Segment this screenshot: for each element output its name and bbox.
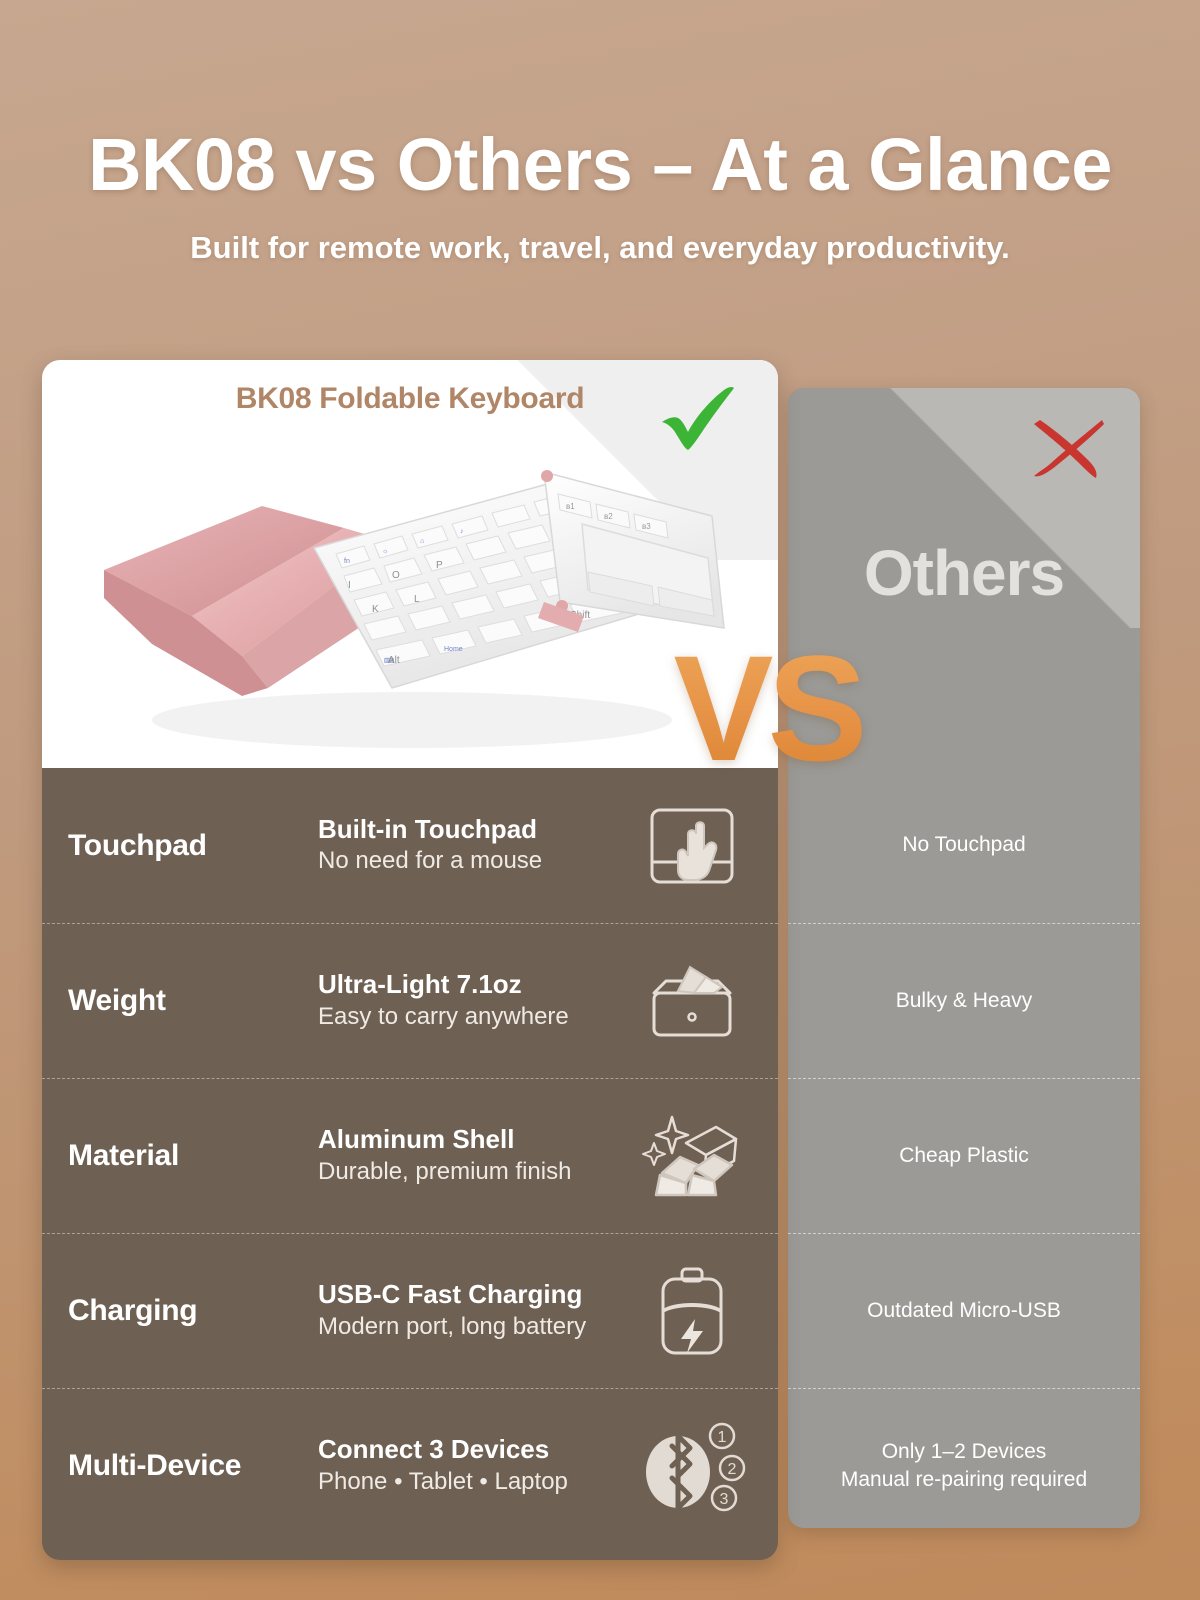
- comparison-row: Material Aluminum Shell Durable, premium…: [42, 1078, 778, 1233]
- row-detail-sub: No need for a mouse: [318, 846, 624, 876]
- row-detail-main: Ultra-Light 7.1oz: [318, 970, 624, 1000]
- product-image: fn ☼ ⌂ ♪ ⌨ Home I O P K L: [92, 420, 732, 760]
- row-detail-main: Connect 3 Devices: [318, 1435, 624, 1465]
- row-category: Multi-Device: [68, 1449, 318, 1483]
- row-detail-sub: Phone • Tablet • Laptop: [318, 1467, 624, 1497]
- svg-text:I: I: [348, 580, 351, 591]
- row-detail-sub: Modern port, long battery: [318, 1312, 624, 1342]
- battery-bolt-icon: [651, 1265, 733, 1357]
- red-cross-icon: [1024, 410, 1110, 484]
- others-row: Outdated Micro-USB: [788, 1233, 1140, 1388]
- packing-box-icon: [644, 959, 740, 1043]
- others-value: Cheap Plastic: [899, 1142, 1029, 1170]
- row-detail-main: Aluminum Shell: [318, 1125, 624, 1155]
- page-title: BK08 vs Others – At a Glance: [0, 128, 1200, 202]
- svg-text:L: L: [414, 594, 420, 605]
- svg-text:P: P: [436, 560, 443, 571]
- others-value-line1: Only 1–2 Devices: [882, 1440, 1047, 1463]
- touchpad-hand-icon: [646, 804, 738, 888]
- page-header: BK08 vs Others – At a Glance Built for r…: [0, 0, 1200, 266]
- comparison-row: Weight Ultra-Light 7.1oz Easy to carry a…: [42, 923, 778, 1078]
- row-detail: Ultra-Light 7.1oz Easy to carry anywhere: [318, 970, 632, 1032]
- product-rows: Touchpad Built-in Touchpad No need for a…: [42, 768, 778, 1560]
- row-category: Material: [68, 1139, 318, 1173]
- others-value: Only 1–2 Devices Manual re-pairing requi…: [841, 1438, 1087, 1495]
- svg-text:☼: ☼: [382, 548, 388, 555]
- metal-bars-icon: [642, 1113, 742, 1199]
- others-row: Bulky & Heavy: [788, 923, 1140, 1078]
- svg-text:⌂: ⌂: [420, 538, 424, 545]
- others-value: Outdated Micro-USB: [867, 1297, 1061, 1325]
- others-value-line2: Manual re-pairing required: [841, 1468, 1087, 1491]
- svg-text:O: O: [392, 570, 400, 581]
- others-value: No Touchpad: [902, 831, 1025, 859]
- svg-text:ʙ1: ʙ1: [566, 502, 575, 511]
- bluetooth-three-devices-icon: 1 2 3: [638, 1420, 746, 1512]
- others-value: Bulky & Heavy: [896, 987, 1033, 1015]
- row-category: Weight: [68, 984, 318, 1018]
- row-category: Charging: [68, 1294, 318, 1328]
- svg-text:2: 2: [728, 1461, 737, 1478]
- page-subtitle: Built for remote work, travel, and every…: [0, 230, 1200, 266]
- row-detail: Built-in Touchpad No need for a mouse: [318, 815, 632, 877]
- row-detail-sub: Easy to carry anywhere: [318, 1002, 624, 1032]
- svg-text:♪: ♪: [460, 528, 464, 535]
- row-icon: [632, 1113, 752, 1199]
- row-detail: Connect 3 Devices Phone • Tablet • Lapto…: [318, 1435, 632, 1497]
- others-rows: No Touchpad Bulky & Heavy Cheap Plastic …: [788, 768, 1140, 1528]
- svg-text:Alt: Alt: [388, 655, 400, 666]
- row-icon: [632, 804, 752, 888]
- svg-text:K: K: [372, 604, 379, 615]
- row-category: Touchpad: [68, 829, 318, 863]
- svg-text:1: 1: [718, 1429, 727, 1446]
- row-detail-sub: Durable, premium finish: [318, 1157, 624, 1187]
- vs-badge: VS: [645, 628, 890, 798]
- row-icon: 1 2 3: [632, 1420, 752, 1512]
- svg-text:ʙ2: ʙ2: [604, 512, 613, 521]
- others-row: Cheap Plastic: [788, 1078, 1140, 1233]
- svg-text:3: 3: [720, 1491, 729, 1508]
- product-card: BK08 Foldable Keyboard: [42, 360, 778, 1560]
- row-icon: [632, 1265, 752, 1357]
- svg-text:Home: Home: [444, 646, 463, 653]
- svg-text:ʙ3: ʙ3: [642, 522, 651, 531]
- comparison-row: Charging USB-C Fast Charging Modern port…: [42, 1233, 778, 1388]
- svg-text:fn: fn: [344, 558, 350, 565]
- row-detail-main: Built-in Touchpad: [318, 815, 624, 845]
- others-row: Only 1–2 Devices Manual re-pairing requi…: [788, 1388, 1140, 1528]
- row-icon: [632, 959, 752, 1043]
- foldable-keyboard-illustration: fn ☼ ⌂ ♪ ⌨ Home I O P K L: [92, 420, 732, 760]
- others-card: Others No Touchpad Bulky & Heavy Cheap P…: [788, 388, 1140, 1528]
- row-detail-main: USB-C Fast Charging: [318, 1280, 624, 1310]
- others-title: Others: [788, 536, 1140, 610]
- comparison-row: Multi-Device Connect 3 Devices Phone • T…: [42, 1388, 778, 1543]
- row-detail: USB-C Fast Charging Modern port, long ba…: [318, 1280, 632, 1342]
- row-detail: Aluminum Shell Durable, premium finish: [318, 1125, 632, 1187]
